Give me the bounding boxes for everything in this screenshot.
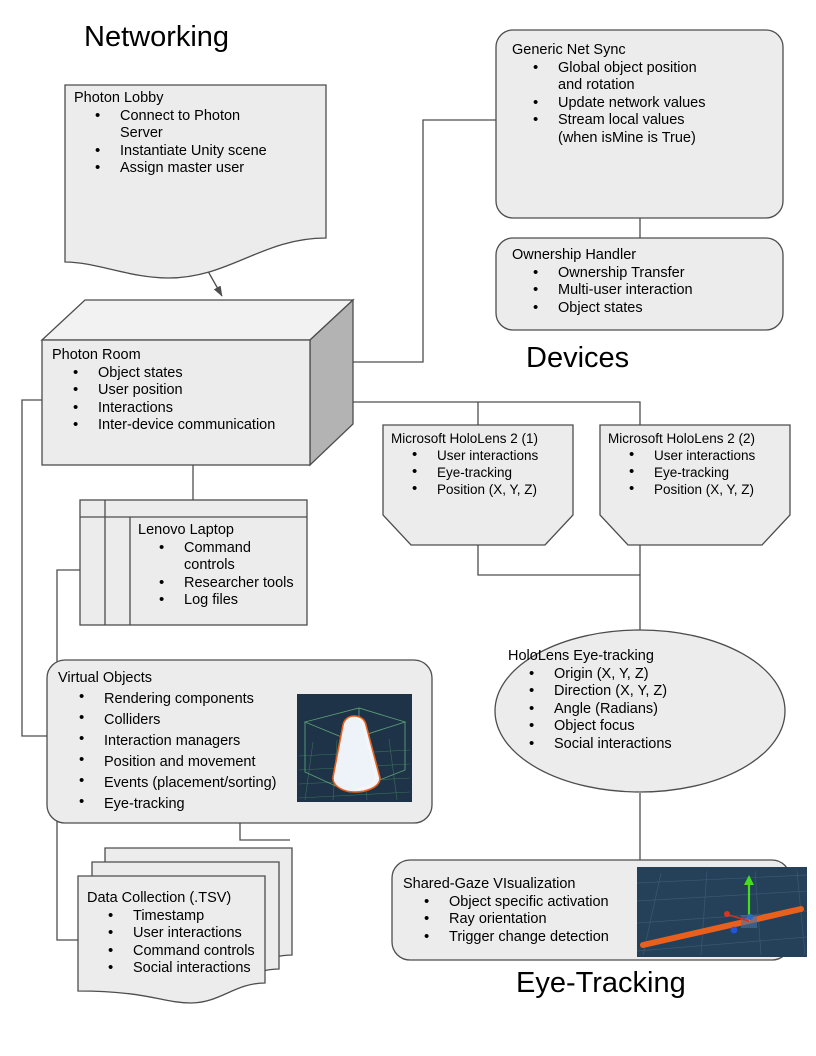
connector-photon-room-to-generic-net-sync [323,120,496,362]
list-item: Colliders [58,710,303,731]
node-hololens-1-items: User interactions Eye-tracking Position … [391,447,581,498]
node-lenovo-laptop-title: Lenovo Laptop [138,522,308,540]
node-ownership-handler[interactable]: Ownership Handler Ownership Transfer Mul… [512,247,787,317]
list-item: Eye-tracking [608,464,798,481]
list-item: Stream local values [512,112,787,130]
list-item: Direction (X, Y, Z) [508,683,763,701]
list-item: Social interactions [508,736,763,754]
gaze-ray-preview-svg [637,867,807,957]
list-item: Interactions [52,400,322,418]
unity-cone-preview [297,694,412,802]
list-item: Log files [138,592,308,610]
list-item: Rendering components [58,689,303,710]
connector-hololens-1-to-eye-tracking [478,545,640,630]
connector-virtual-objects-to-data-collection [240,823,290,840]
list-item: User interactions [391,447,581,464]
gaze-ray-preview [637,867,807,957]
list-item: Inter-device communication [52,417,322,435]
node-hololens-eye-tracking[interactable]: HoloLens Eye-tracking Origin (X, Y, Z) D… [508,648,763,753]
node-lenovo-laptop[interactable]: Lenovo Laptop Command controls Researche… [138,522,308,610]
list-item: Command controls [87,943,287,961]
section-title-devices: Devices [526,343,629,375]
list-item: Events (placement/sorting) [58,773,303,794]
node-hololens-eye-tracking-items: Origin (X, Y, Z) Direction (X, Y, Z) Ang… [508,666,763,754]
node-data-collection-title: Data Collection (.TSV) [87,890,287,908]
list-item: Ownership Transfer [512,265,787,283]
list-item: Instantiate Unity scene [74,143,324,161]
list-item: Origin (X, Y, Z) [508,666,763,684]
list-item: Object focus [508,718,763,736]
connector-photon-lobby-to-photon-room [196,250,222,296]
list-item: and rotation [512,77,787,95]
list-item: Social interactions [87,960,287,978]
list-item: Angle (Radians) [508,701,763,719]
list-item: Trigger change detection [403,929,643,947]
node-lenovo-laptop-items: Command controls Researcher tools Log fi… [138,540,308,610]
list-item: User interactions [608,447,798,464]
node-photon-room-title: Photon Room [52,347,322,365]
node-hololens-2-title: Microsoft HoloLens 2 (2) [608,430,798,447]
section-title-networking: Networking [84,22,229,54]
list-item: Interaction managers [58,731,303,752]
list-item: Eye-tracking [58,794,303,815]
list-item: User interactions [87,925,287,943]
section-title-eye-tracking: Eye-Tracking [516,968,686,1000]
node-data-collection[interactable]: Data Collection (.TSV) Timestamp User in… [87,890,287,978]
node-shared-gaze-visualization[interactable]: Shared-Gaze VIsualization Object specifi… [403,876,643,946]
node-photon-room[interactable]: Photon Room Object states User position … [52,347,322,435]
node-virtual-objects[interactable]: Virtual Objects Rendering components Col… [58,668,303,815]
list-item: Global object position [512,60,787,78]
list-item: Position and movement [58,752,303,773]
list-item: Ray orientation [403,911,643,929]
connector-photon-room-to-hololens-2 [323,402,640,425]
node-hololens-1[interactable]: Microsoft HoloLens 2 (1) User interactio… [391,430,581,498]
list-item: Eye-tracking [391,464,581,481]
node-data-collection-items: Timestamp User interactions Command cont… [87,908,287,978]
list-item: Object specific activation [403,894,643,912]
list-item: Researcher tools [138,575,308,593]
node-photon-lobby[interactable]: Photon Lobby Connect to Photon Server In… [74,90,324,178]
list-item: controls [138,557,308,575]
list-item: Server [74,125,324,143]
node-photon-lobby-items: Connect to Photon Server Instantiate Uni… [74,108,324,178]
connector-group [22,120,640,940]
node-photon-lobby-title: Photon Lobby [74,90,324,108]
list-item: Timestamp [87,908,287,926]
list-item: Position (X, Y, Z) [391,481,581,498]
node-virtual-objects-items: Rendering components Colliders Interacti… [58,689,303,815]
node-shared-gaze-visualization-items: Object specific activation Ray orientati… [403,894,643,947]
list-item: Object states [52,365,322,383]
list-item: User position [52,382,322,400]
node-shared-gaze-visualization-title: Shared-Gaze VIsualization [403,876,643,894]
list-item: Position (X, Y, Z) [608,481,798,498]
list-item: Command [138,540,308,558]
list-item: Update network values [512,95,787,113]
node-hololens-2[interactable]: Microsoft HoloLens 2 (2) User interactio… [608,430,798,498]
node-generic-net-sync-items: Global object position and rotation Upda… [512,60,787,148]
diagram-canvas: Networking Devices Eye-Tracking Photon L… [0,0,816,1056]
list-item: Multi-user interaction [512,282,787,300]
unity-cone-preview-svg [297,694,412,802]
node-photon-room-items: Object states User position Interactions… [52,365,322,435]
list-item: Assign master user [74,160,324,178]
node-virtual-objects-title: Virtual Objects [58,668,303,689]
node-hololens-eye-tracking-title: HoloLens Eye-tracking [508,648,763,666]
node-ownership-handler-items: Ownership Transfer Multi-user interactio… [512,265,787,318]
node-generic-net-sync-title: Generic Net Sync [512,42,787,60]
connector-photon-room-to-virtual-objects [22,400,47,736]
node-hololens-1-title: Microsoft HoloLens 2 (1) [391,430,581,447]
node-ownership-handler-title: Ownership Handler [512,247,787,265]
list-item: Connect to Photon [74,108,324,126]
list-item: Object states [512,300,787,318]
node-generic-net-sync[interactable]: Generic Net Sync Global object position … [512,42,787,147]
list-item: (when isMine is True) [512,130,787,148]
node-hololens-2-items: User interactions Eye-tracking Position … [608,447,798,498]
